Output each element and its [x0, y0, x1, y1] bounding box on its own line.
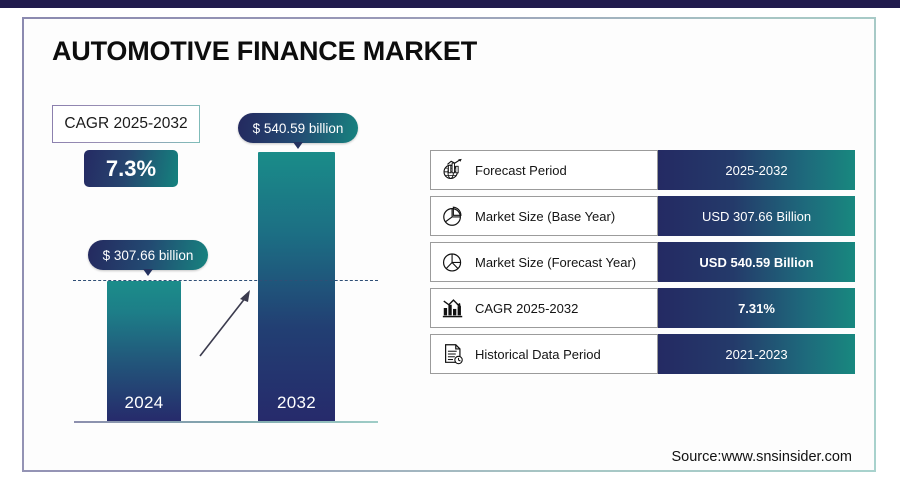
bar-value-text-2032: $ 540.59 billion [253, 121, 344, 136]
table-value-cell: USD 307.66 Billion [658, 196, 855, 236]
pie-chart-exploded-icon [440, 202, 466, 230]
table-label-cell: Market Size (Base Year) [430, 196, 658, 236]
table-label-cell: CAGR 2025-2032 [430, 288, 658, 328]
source-text: Source:www.snsinsider.com [671, 449, 852, 465]
table-row: Market Size (Base Year) USD 307.66 Billi… [430, 196, 855, 236]
table-label-cell: Market Size (Forecast Year) [430, 242, 658, 282]
table-label-text: CAGR 2025-2032 [475, 301, 578, 316]
growth-arrow-icon [196, 285, 256, 360]
table-label-text: Market Size (Base Year) [475, 209, 615, 224]
table-value-cell: 2025-2032 [658, 150, 855, 190]
table-row: Market Size (Forecast Year) USD 540.59 B… [430, 242, 855, 282]
pie-chart-thirds-icon [440, 248, 466, 276]
bar-value-label-2032: $ 540.59 billion [238, 113, 358, 143]
table-row: Forecast Period 2025-2032 [430, 150, 855, 190]
table-label-cell: Forecast Period [430, 150, 658, 190]
bar-2024: 2024 [107, 281, 181, 422]
chart-baseline [74, 421, 378, 423]
globe-growth-chart-icon [440, 156, 466, 184]
bar-chart: $ 540.59 billion 2032 $ 307.66 billion 2… [0, 0, 420, 500]
bar-category-2024: 2024 [107, 393, 181, 413]
table-value-cell: 7.31% [658, 288, 855, 328]
table-label-cell: Historical Data Period [430, 334, 658, 374]
table-label-text: Historical Data Period [475, 347, 601, 362]
table-label-text: Forecast Period [475, 163, 567, 178]
bar-value-label-2024: $ 307.66 billion [88, 240, 208, 270]
bar-chart-arrow-icon [440, 294, 466, 322]
table-row: CAGR 2025-2032 7.31% [430, 288, 855, 328]
document-clock-icon [440, 340, 466, 368]
bar-category-2032: 2032 [258, 393, 335, 413]
bar-value-text-2024: $ 307.66 billion [103, 248, 194, 263]
bar-2032: 2032 [258, 152, 335, 422]
metrics-table: Forecast Period 2025-2032 Market Size (B… [430, 150, 855, 380]
table-value-cell: USD 540.59 Billion [658, 242, 855, 282]
table-row: Historical Data Period 2021-2023 [430, 334, 855, 374]
table-value-cell: 2021-2023 [658, 334, 855, 374]
table-label-text: Market Size (Forecast Year) [475, 255, 636, 270]
